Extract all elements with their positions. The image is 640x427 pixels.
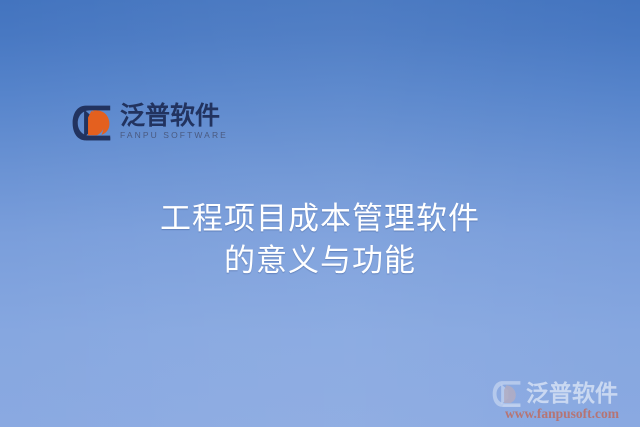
fanpu-watermark-mark-icon	[492, 380, 522, 408]
title-line-1: 工程项目成本管理软件	[0, 198, 640, 240]
watermark-url: www.fanpusoft.com	[492, 406, 632, 421]
page-title: 工程项目成本管理软件 的意义与功能	[0, 198, 640, 282]
watermark-name-cn: 泛普软件	[526, 381, 618, 407]
presentation-slide: 泛普软件 FANPU SOFTWARE 工程项目成本管理软件 的意义与功能 泛普…	[0, 0, 640, 427]
title-line-2: 的意义与功能	[0, 240, 640, 282]
watermark: 泛普软件 www.fanpusoft.com	[492, 380, 632, 421]
watermark-row: 泛普软件	[492, 380, 632, 408]
brand-text: 泛普软件 FANPU SOFTWARE	[120, 102, 228, 140]
brand-name-cn: 泛普软件	[120, 102, 228, 129]
brand-logo: 泛普软件 FANPU SOFTWARE	[72, 102, 228, 142]
fanpu-logo-mark-icon	[72, 104, 112, 142]
brand-name-en: FANPU SOFTWARE	[120, 130, 228, 140]
